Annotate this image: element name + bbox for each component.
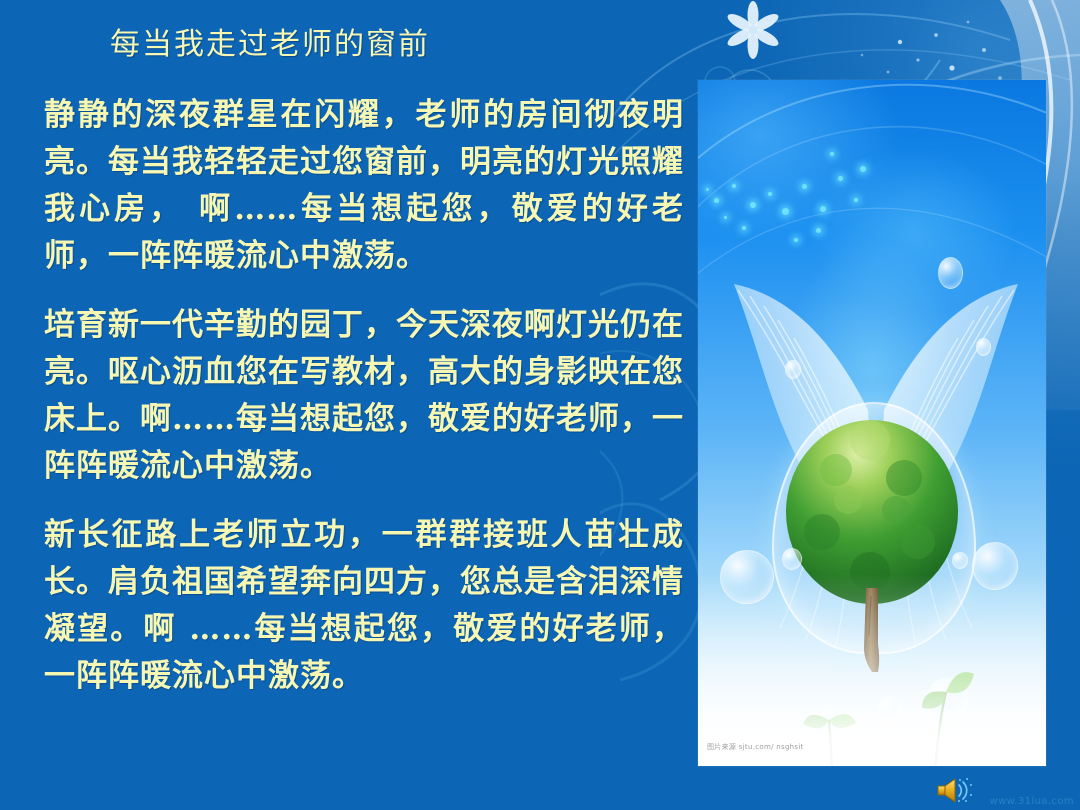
speaker-icon[interactable] [936, 776, 976, 804]
slide-canvas: 每当我走过老师的窗前 静静的深夜群星在闪耀，老师的房间彻夜明亮。每当我轻轻走过您… [0, 0, 1080, 810]
lyrics-paragraph-1: 静静的深夜群星在闪耀，老师的房间彻夜明亮。每当我轻轻走过您窗前，明亮的灯光照耀我… [44, 92, 684, 280]
glass-egg [772, 402, 976, 654]
lyrics-paragraph-3: 新长征路上老师立功，一群群接班人苗壮成长。肩负祖国希望奔向四方，您总是含泪深情凝… [44, 512, 684, 700]
image-watermark: 图片来源 sjtu.com/ nsghsit [707, 742, 804, 752]
flower-icon [725, 1, 781, 59]
page-title: 每当我走过老师的窗前 [110, 26, 430, 64]
site-watermark: www.31lua.com [989, 796, 1074, 807]
slide-image: 图片来源 sjtu.com/ nsghsit [698, 80, 1046, 766]
lyrics-body: 静静的深夜群星在闪耀，老师的房间彻夜明亮。每当我轻轻走过您窗前，明亮的灯光照耀我… [44, 92, 684, 700]
lyrics-paragraph-2: 培育新一代辛勤的园丁，今天深夜啊灯光仍在亮。呕心沥血您在写教材，高大的身影映在您… [44, 302, 684, 490]
